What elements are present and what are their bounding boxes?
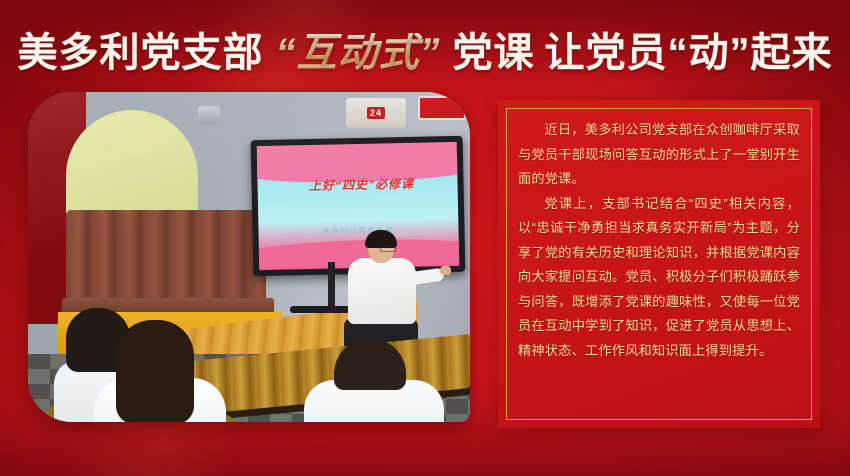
photo-banquette-seat: [66, 210, 266, 312]
poster-title-bar: 美多利党支部 “互动式” 党课 让党员“动”起来: [0, 22, 850, 84]
photo-attendee-2-hair: [116, 320, 194, 422]
photo-tv-stand: [328, 262, 335, 308]
photo-wall-red-box: [418, 96, 466, 120]
article-panel: 近日，美多利公司党支部在众创咖啡厅采取与党员干部现场问答互动的形式上了一堂别开生…: [498, 100, 820, 428]
title-segment-interactive: “互动式”: [274, 33, 443, 73]
tv-slide-footer: 美多利公司党支部: [278, 224, 438, 237]
article-paragraph-2: 党课上，支部书记结合“四史”相关内容，以“忠诚干净勇担当求真务实开新局”为主题，…: [518, 192, 800, 364]
photo-wall-speaker: [198, 106, 220, 124]
photo-wall-sign-24h: 24: [346, 98, 406, 128]
title-segment-lesson: 党课: [453, 33, 535, 73]
page-title: 美多利党支部 “互动式” 党课 让党员“动”起来: [18, 33, 833, 73]
photo-speaker-body: [348, 258, 416, 324]
title-segment-company: 美多利党支部: [18, 33, 264, 73]
tv-slide-headline: 上好“四史”必修课: [285, 175, 437, 196]
event-photo: 24 上好“四史”必修课 美多利公司党支部: [28, 92, 470, 422]
photo-speaker-hand: [440, 266, 451, 275]
photo-television: 上好“四史”必修课 美多利公司党支部: [251, 136, 466, 276]
photo-tv-screen: 上好“四史”必修课 美多利公司党支部: [257, 142, 460, 270]
title-segment-tagline: 让党员“动”起来: [545, 33, 833, 73]
wall-sign-number: 24: [367, 107, 385, 119]
poster-root: 美多利党支部 “互动式” 党课 让党员“动”起来 24: [0, 0, 850, 476]
article-body: 近日，美多利公司党支部在众创咖啡厅采取与党员干部现场问答互动的形式上了一堂别开生…: [518, 118, 800, 412]
article-paragraph-1: 近日，美多利公司党支部在众创咖啡厅采取与党员干部现场问答互动的形式上了一堂别开生…: [518, 118, 800, 192]
photo-speaker-glasses: [380, 245, 396, 252]
